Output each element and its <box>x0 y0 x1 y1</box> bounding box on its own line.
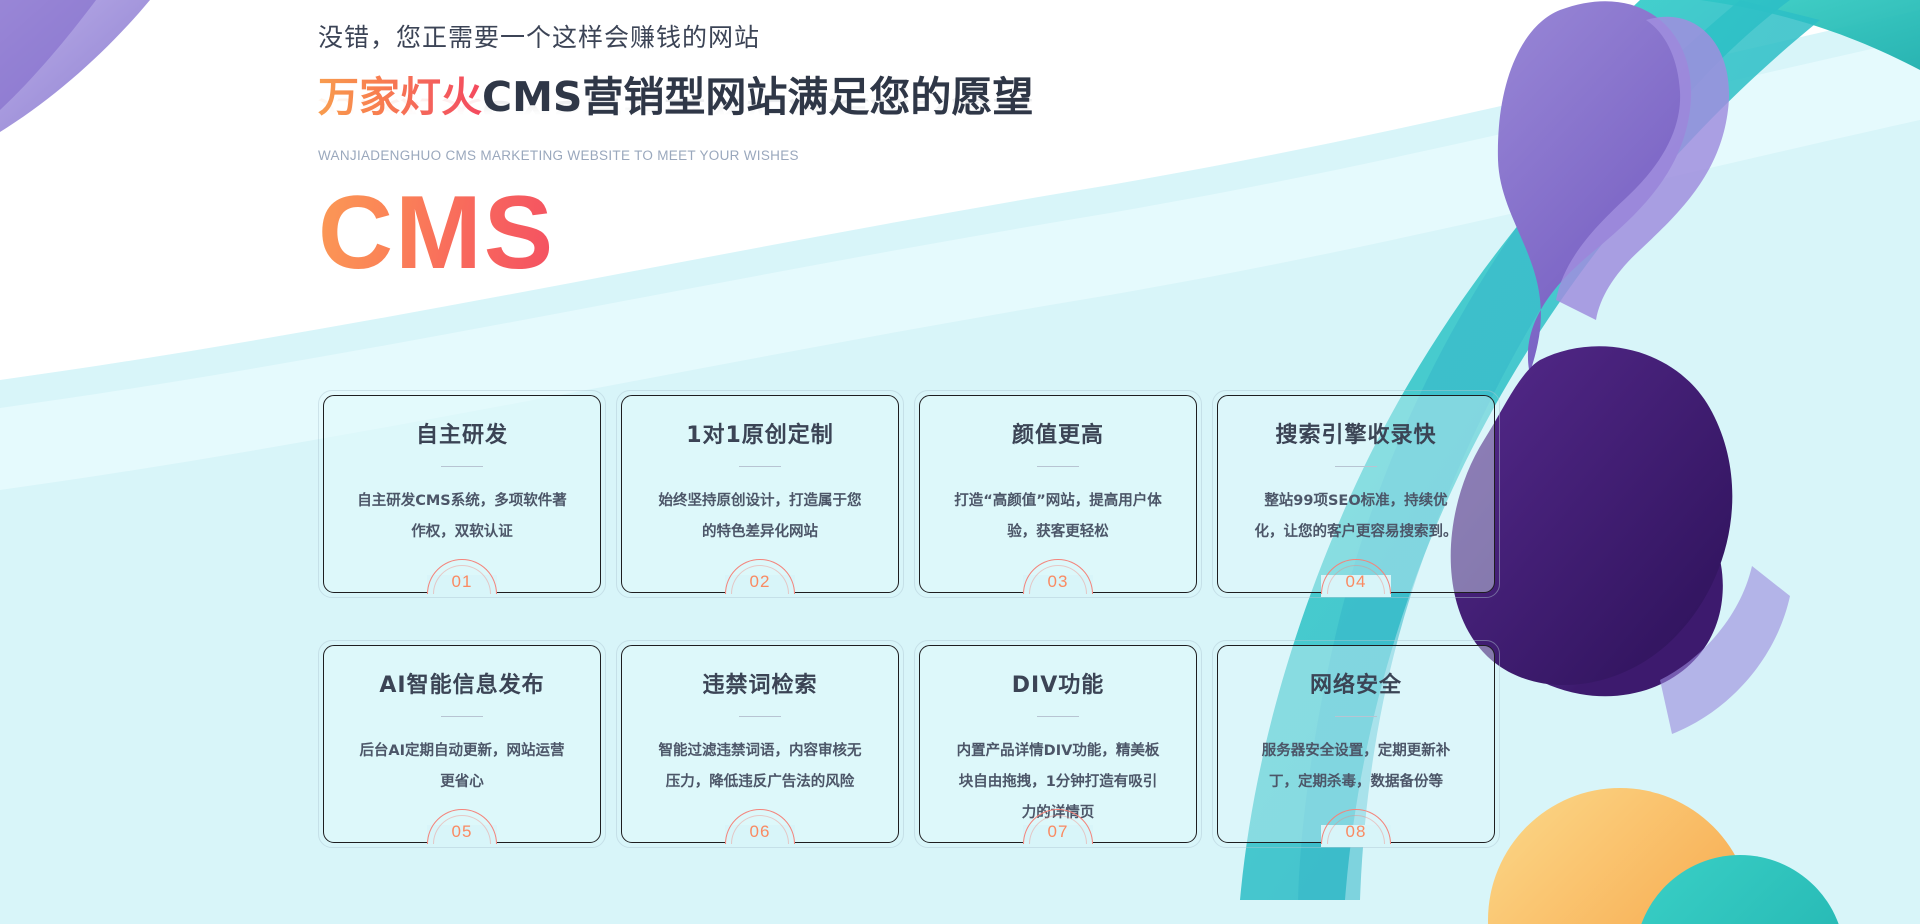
hero-title-rest: CMS营销型网站满足您的愿望 <box>482 73 1033 121</box>
feature-card-description: 整站99项SEO标准，持续优化，让您的客户更容易搜索到。 <box>1250 486 1462 548</box>
feature-card-title: 自主研发 <box>416 417 508 449</box>
feature-card-number-badge: 05 <box>427 807 497 844</box>
feature-card-divider <box>1037 466 1079 467</box>
feature-card-description: 内置产品详情DIV功能，精美板块自由拖拽，1分钟打造有吸引力的详情页 <box>952 736 1164 829</box>
feature-card-slot: 网络安全 服务器安全设置，定期更新补丁，定期杀毒，数据备份等 08 <box>1212 640 1500 848</box>
feature-card-number: 08 <box>1321 822 1391 842</box>
feature-card-slot: AI智能信息发布 后台AI定期自动更新，网站运营更省心 05 <box>318 640 606 848</box>
feature-card-slot: 自主研发 自主研发CMS系统，多项软件著作权，双软认证 01 <box>318 390 606 598</box>
hero-eyebrow: 没错，您正需要一个这样会赚钱的网站 <box>318 22 1318 55</box>
feature-card-number: 06 <box>725 822 795 842</box>
feature-card-number-badge: 06 <box>725 807 795 844</box>
feature-card[interactable]: DIV功能 内置产品详情DIV功能，精美板块自由拖拽，1分钟打造有吸引力的详情页… <box>914 640 1202 848</box>
feature-card-title: AI智能信息发布 <box>379 667 544 699</box>
feature-card-slot: DIV功能 内置产品详情DIV功能，精美板块自由拖拽，1分钟打造有吸引力的详情页… <box>914 640 1202 848</box>
feature-card-description: 打造“高颜值”网站，提高用户体验，获客更轻松 <box>952 486 1164 548</box>
feature-card[interactable]: AI智能信息发布 后台AI定期自动更新，网站运营更省心 05 <box>318 640 606 848</box>
hero-title-wrap: 万家灯火CMS营销型网站满足您的愿望 万家灯火CMS营销型网站满足您的愿望 <box>318 77 1318 129</box>
feature-card[interactable]: 违禁词检索 智能过滤违禁词语，内容审核无压力，降低违反广告法的风险 06 <box>616 640 904 848</box>
hero-big-word: CMS <box>318 179 555 288</box>
feature-card-number-badge: 02 <box>725 557 795 594</box>
feature-card-divider <box>441 716 483 717</box>
feature-card-description: 服务器安全设置，定期更新补丁，定期杀毒，数据备份等 <box>1250 736 1462 798</box>
feature-cards-row-2: AI智能信息发布 后台AI定期自动更新，网站运营更省心 05 <box>318 640 1588 848</box>
feature-card-slot: 颜值更高 打造“高颜值”网站，提高用户体验，获客更轻松 03 <box>914 390 1202 598</box>
feature-card-title: 1对1原创定制 <box>686 417 834 449</box>
feature-card-description: 自主研发CMS系统，多项软件著作权，双软认证 <box>356 486 568 548</box>
feature-card[interactable]: 1对1原创定制 始终坚持原创设计，打造属于您的特色差异化网站 02 <box>616 390 904 598</box>
feature-card-divider <box>1335 716 1377 717</box>
hero-title-brand: 万家灯火 <box>318 73 482 121</box>
feature-card-divider <box>1037 716 1079 717</box>
feature-card-divider <box>441 466 483 467</box>
feature-card-divider <box>1335 466 1377 467</box>
feature-card-slot: 搜索引擎收录快 整站99项SEO标准，持续优化，让您的客户更容易搜索到。 04 <box>1212 390 1500 598</box>
feature-card-number: 05 <box>427 822 497 842</box>
feature-card-slot: 1对1原创定制 始终坚持原创设计，打造属于您的特色差异化网站 02 <box>616 390 904 598</box>
feature-card-title: 搜索引擎收录快 <box>1275 417 1436 449</box>
hero-subtitle-english: WANJIADENGHUO CMS MARKETING WEBSITE TO M… <box>318 148 1318 163</box>
feature-card-number-badge: 08 <box>1321 807 1391 844</box>
feature-card-number: 01 <box>427 572 497 592</box>
feature-card-number-badge: 03 <box>1023 557 1093 594</box>
feature-card-divider <box>739 716 781 717</box>
feature-card-description: 后台AI定期自动更新，网站运营更省心 <box>356 736 568 798</box>
feature-card-title: 违禁词检索 <box>702 667 817 699</box>
feature-cards-row-1: 自主研发 自主研发CMS系统，多项软件著作权，双软认证 01 <box>318 390 1588 598</box>
feature-card-title: DIV功能 <box>1012 667 1104 699</box>
feature-card-description: 始终坚持原创设计，打造属于您的特色差异化网站 <box>654 486 866 548</box>
feature-card[interactable]: 搜索引擎收录快 整站99项SEO标准，持续优化，让您的客户更容易搜索到。 04 <box>1212 390 1500 598</box>
feature-card-number: 04 <box>1321 572 1391 592</box>
feature-card[interactable]: 自主研发 自主研发CMS系统，多项软件著作权，双软认证 01 <box>318 390 606 598</box>
feature-card-number: 03 <box>1023 572 1093 592</box>
feature-card-slot: 违禁词检索 智能过滤违禁词语，内容审核无压力，降低违反广告法的风险 06 <box>616 640 904 848</box>
feature-card[interactable]: 颜值更高 打造“高颜值”网站，提高用户体验，获客更轻松 03 <box>914 390 1202 598</box>
feature-card-title: 颜值更高 <box>1012 417 1104 449</box>
hero-title: 万家灯火CMS营销型网站满足您的愿望 <box>318 77 1318 118</box>
feature-card-number-badge: 04 <box>1321 557 1391 594</box>
hero-headline-block: 没错，您正需要一个这样会赚钱的网站 万家灯火CMS营销型网站满足您的愿望 万家灯… <box>318 22 1318 288</box>
feature-card-description: 智能过滤违禁词语，内容审核无压力，降低违反广告法的风险 <box>654 736 866 798</box>
feature-card-number-badge: 01 <box>427 557 497 594</box>
feature-card-title: 网络安全 <box>1310 667 1402 699</box>
feature-card-number: 02 <box>725 572 795 592</box>
feature-card[interactable]: 网络安全 服务器安全设置，定期更新补丁，定期杀毒，数据备份等 08 <box>1212 640 1500 848</box>
feature-card-divider <box>739 466 781 467</box>
feature-cards-grid: 自主研发 自主研发CMS系统，多项软件著作权，双软认证 01 <box>318 390 1588 848</box>
